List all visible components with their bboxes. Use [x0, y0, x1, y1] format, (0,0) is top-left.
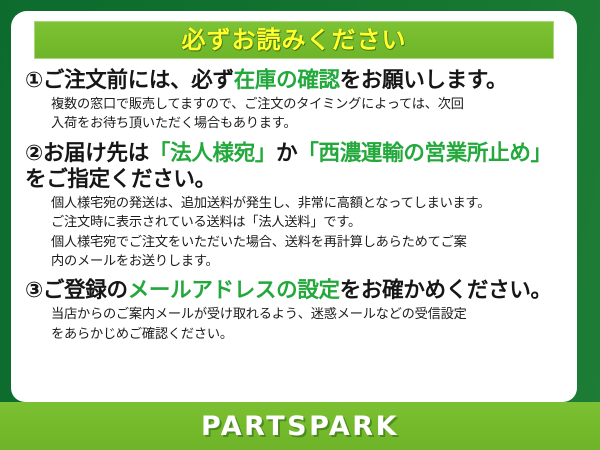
notice-item-2-body-line-1: 個人様宅宛の発送は、追加送料が発生し、非常に高額となってしまいます。 — [51, 194, 563, 213]
notice-item-2-number: ② — [25, 141, 43, 166]
notice-item-1-body: 複数の窓口で販売してますので、ご注文のタイミングによっては、次回入荷をお待ち頂い… — [51, 95, 563, 134]
notice-item-2-body-line-2: ご注文時に表示されている送料は「法人送料」です。 — [51, 213, 563, 232]
notice-item-3-heading-post: をお確かめください。 — [340, 278, 552, 303]
notice-item-list: ①ご注文前には、必ず在庫の確認をお願いします。 複数の窓口で販売してますので、ご… — [25, 68, 563, 344]
notice-item-2-heading: ②お届け先は「法人様宛」か「西濃運輸の営業所止め」をご指定ください。 — [25, 141, 563, 193]
notice-item-3-body: 当店からのご案内メールが受け取れるよう、迷惑メールなどの受信設定をあらかじめご確… — [51, 305, 563, 344]
notice-item-1-heading-post: をお願いします。 — [340, 68, 507, 93]
notice-item-2: ②お届け先は「法人様宛」か「西濃運輸の営業所止め」をご指定ください。 個人様宅宛… — [25, 141, 563, 272]
notice-item-2-heading-post: をご指定ください。 — [25, 167, 216, 192]
notice-item-1-heading: ①ご注文前には、必ず在庫の確認をお願いします。 — [25, 68, 563, 94]
notice-item-1: ①ご注文前には、必ず在庫の確認をお願いします。 複数の窓口で販売してますので、ご… — [25, 68, 563, 134]
notice-panel: 必ずお読みください ①ご注文前には、必ず在庫の確認をお願いします。 複数の窓口で… — [11, 11, 577, 402]
notice-item-2-body: 個人様宅宛の発送は、追加送料が発生し、非常に高額となってしまいます。ご注文時に表… — [51, 194, 563, 271]
notice-item-3-heading-pre: ご登録の — [43, 278, 128, 303]
notice-item-3-heading: ③ご登録のメールアドレスの設定をお確かめください。 — [25, 278, 563, 304]
title-banner: 必ずお読みください — [34, 21, 554, 59]
notice-title: 必ずお読みください — [182, 28, 407, 52]
notice-item-2-heading-highlight-2: 「西濃運輸の営業所止め」 — [297, 141, 551, 166]
notice-item-2-body-line-3: 個人様宅宛でご注文をいただいた場合、送料を再計算しあらためてご案 — [51, 233, 563, 252]
notice-item-1-number: ① — [25, 68, 43, 93]
notice-item-1-heading-pre: ご注文前には、必ず — [43, 68, 234, 93]
notice-item-2-heading-mid: か — [276, 141, 297, 166]
notice-item-3-number: ③ — [25, 278, 43, 303]
notice-item-3-body-line-2: をあらかじめご確認ください。 — [51, 325, 563, 344]
footer-brand-bar: PARTSPARK — [0, 402, 600, 450]
notice-item-2-heading-highlight-1: 「法人様宛」 — [149, 141, 276, 166]
notice-card: 必ずお読みください ①ご注文前には、必ず在庫の確認をお願いします。 複数の窓口で… — [0, 0, 600, 450]
notice-item-2-heading-pre: お届け先は — [43, 141, 149, 166]
notice-item-1-body-line-1: 複数の窓口で販売してますので、ご注文のタイミングによっては、次回 — [51, 95, 563, 114]
notice-item-3-body-line-1: 当店からのご案内メールが受け取れるよう、迷惑メールなどの受信設定 — [51, 305, 563, 324]
notice-item-1-heading-highlight: 在庫の確認 — [234, 68, 340, 93]
notice-item-3-heading-highlight: メールアドレスの設定 — [128, 278, 340, 303]
notice-item-3: ③ご登録のメールアドレスの設定をお確かめください。 当店からのご案内メールが受け… — [25, 278, 563, 344]
notice-item-1-body-line-2: 入荷をお待ち頂いただく場合もあります。 — [51, 114, 563, 133]
brand-logo-text: PARTSPARK — [201, 413, 399, 440]
notice-item-2-body-line-4: 内のメールをお送りします。 — [51, 252, 563, 271]
